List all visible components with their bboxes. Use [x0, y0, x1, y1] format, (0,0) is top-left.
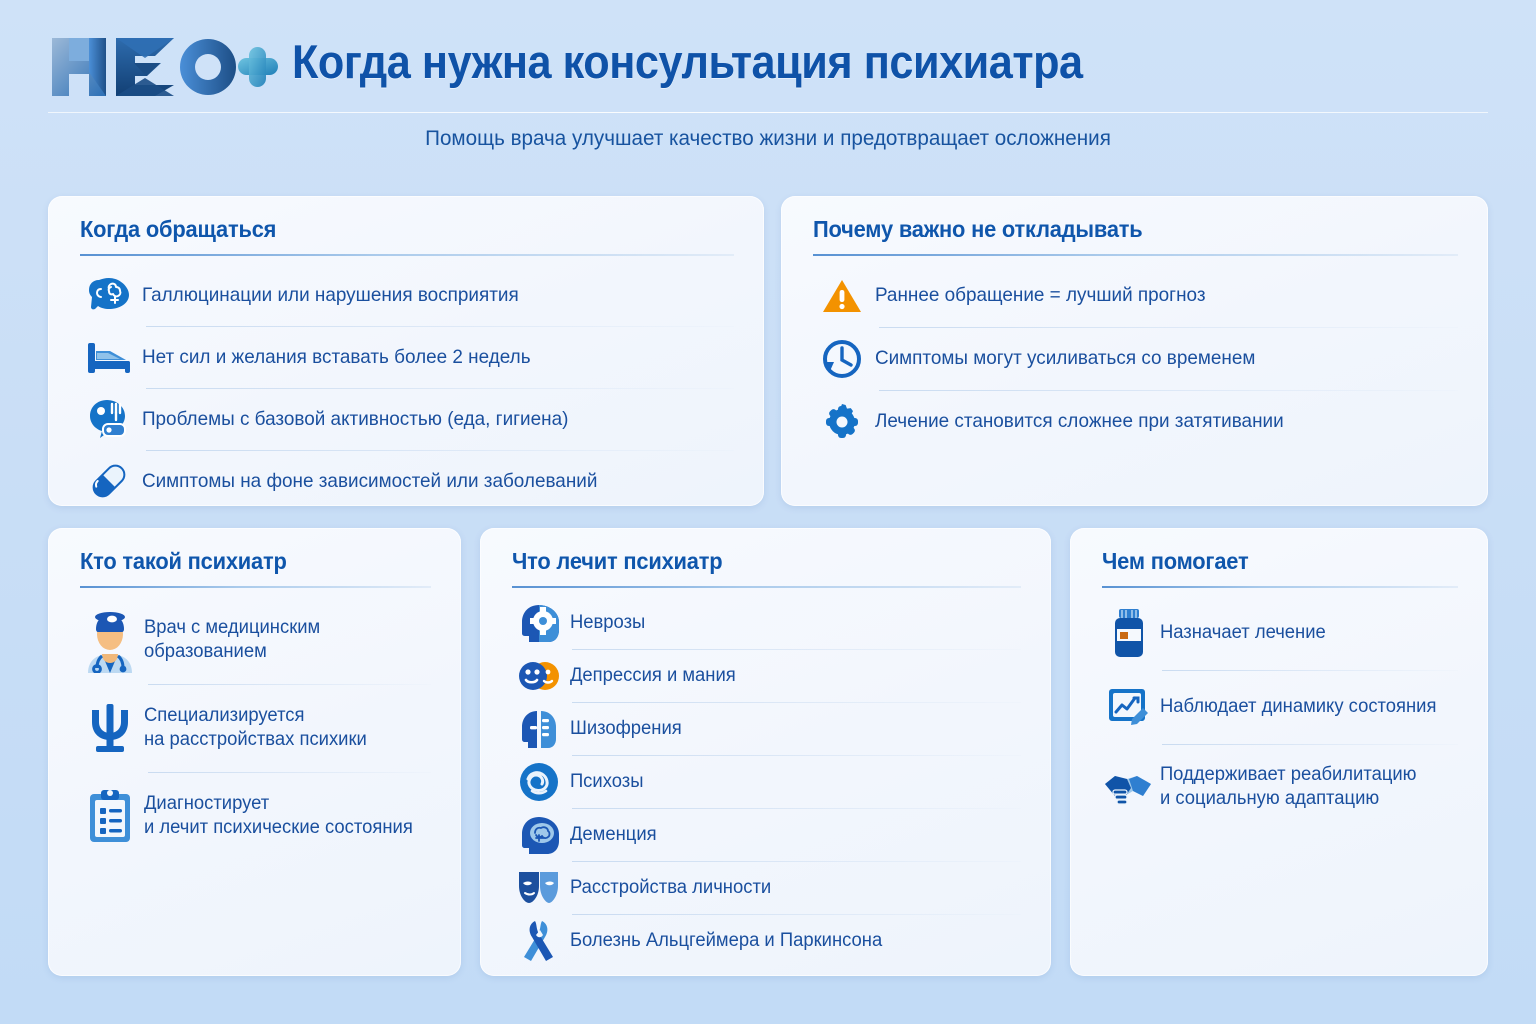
list-item[interactable]: Галлюцинации или нарушения восприятия — [78, 264, 740, 326]
list-item-label: Назначает лечение — [1158, 621, 1326, 645]
neo-plus-logo — [48, 32, 280, 102]
head-brain-icon — [510, 811, 568, 859]
theater-masks-icon — [510, 864, 568, 912]
list-item-label: Наблюдает динамику состояния — [1158, 695, 1436, 719]
list-item[interactable]: Нет сил и желания вставать более 2 недел… — [78, 326, 740, 388]
page-subtitle: Помощь врача улучшает качество жизни и п… — [31, 126, 1506, 151]
card-item-list: Галлюцинации или нарушения восприятия Не… — [78, 264, 740, 512]
brain-icon — [78, 269, 140, 321]
label-line-2: образованием — [144, 641, 267, 662]
card-title-underline — [1102, 586, 1458, 588]
list-item-label: Симптомы на фоне зависимостей или заболе… — [140, 469, 597, 494]
list-item[interactable]: Деменция — [510, 808, 1027, 861]
label-line-1: Врач с медицинским — [144, 617, 320, 638]
list-item[interactable]: Врач с медицинским образованием — [78, 596, 437, 684]
list-item[interactable]: Специализируется на расстройствах психик… — [78, 684, 437, 772]
list-item[interactable]: Неврозы — [510, 596, 1027, 649]
chart-monitor-icon — [1100, 677, 1158, 737]
clipboard-icon — [78, 780, 142, 852]
card-why-not-to-delay: Почему важно не откладывать Раннее обращ… — [781, 196, 1488, 506]
list-item-label: Деменция — [568, 823, 657, 847]
list-item[interactable]: Депрессия и мания — [510, 649, 1027, 702]
awareness-ribbon-icon — [510, 917, 568, 965]
list-item[interactable]: Проблемы с базовой активностью (еда, гиг… — [78, 388, 740, 450]
label-line-1: Специализируется — [144, 705, 305, 726]
list-item-label: Поддерживает реабилитацию и социальную а… — [1158, 763, 1417, 811]
list-item[interactable]: Болезнь Альцгеймера и Паркинсона — [510, 914, 1027, 967]
list-item-label: Расстройства личности — [568, 876, 771, 900]
medicine-bottle-icon — [1100, 603, 1158, 663]
list-item-label: Болезнь Альцгеймера и Паркинсона — [568, 929, 882, 953]
list-item-label: Галлюцинации или нарушения восприятия — [140, 283, 519, 308]
list-item-label: Раннее обращение = лучший прогноз — [873, 283, 1206, 308]
header-divider — [48, 112, 1488, 113]
card-title-underline — [80, 586, 431, 588]
gear-icon — [811, 396, 873, 448]
list-item-label: Психозы — [568, 770, 643, 794]
card-title: Чем помогает — [1102, 548, 1248, 575]
list-item-label: Шизофрения — [568, 717, 682, 741]
list-item-label: Проблемы с базовой активностью (еда, гиг… — [140, 407, 568, 432]
card-when-to-see-doctor: Когда обращаться Галлюцинации или наруше… — [48, 196, 764, 506]
bed-icon — [78, 331, 140, 383]
list-item[interactable]: Симптомы на фоне зависимостей или заболе… — [78, 450, 740, 512]
list-item[interactable]: Психозы — [510, 755, 1027, 808]
list-item-label: Депрессия и мания — [568, 664, 736, 688]
card-title: Что лечит психиатр — [512, 548, 722, 575]
list-item[interactable]: Назначает лечение — [1100, 596, 1464, 670]
card-title-underline — [813, 254, 1458, 256]
card-item-list: Назначает лечение Наблюдает динамику сос… — [1100, 596, 1464, 830]
list-item-label: Лечение становится сложнее при затятиван… — [873, 409, 1284, 434]
split-head-icon — [510, 705, 568, 753]
list-item[interactable]: Наблюдает динамику состояния — [1100, 670, 1464, 744]
label-line-1: Диагностирует — [144, 793, 269, 814]
card-how-it-helps: Чем помогает Назначает лечение — [1070, 528, 1488, 976]
page-title: Когда нужна консультация психиатра — [292, 34, 1083, 89]
psi-symbol-icon — [78, 692, 142, 764]
card-what-psychiatrist-treats: Что лечит психиатр Неврозы — [480, 528, 1051, 976]
card-title-underline — [512, 586, 1021, 588]
warning-triangle-icon — [811, 270, 873, 322]
label-line-2: на расстройствах психики — [144, 729, 367, 750]
label-line-1: Поддерживает реабилитацию — [1160, 764, 1417, 785]
card-title: Кто такой психиатр — [80, 548, 287, 575]
meal-hygiene-icon — [78, 393, 140, 445]
list-item[interactable]: Шизофрения — [510, 702, 1027, 755]
list-item-label: Нет сил и желания вставать более 2 недел… — [140, 345, 531, 370]
clock-icon — [811, 333, 873, 385]
card-who-is-psychiatrist: Кто такой психиатр Врач с медиц — [48, 528, 461, 976]
card-item-list: Неврозы Депрессия и мания — [510, 596, 1027, 967]
label-line-2: и социальную адаптацию — [1160, 788, 1379, 809]
card-title: Почему важно не откладывать — [813, 216, 1143, 243]
two-masks-faces-icon — [510, 652, 568, 700]
head-gear-icon — [510, 599, 568, 647]
list-item[interactable]: Диагностирует и лечит психические состоя… — [78, 772, 437, 860]
card-title-underline — [80, 254, 734, 256]
handshake-icon — [1100, 757, 1158, 817]
tangled-mind-icon — [510, 758, 568, 806]
list-item-label: Симптомы могут усиливаться со временем — [873, 346, 1255, 371]
card-title: Когда обращаться — [80, 216, 276, 243]
list-item-label: Диагностирует и лечит психические состоя… — [142, 792, 413, 840]
list-item[interactable]: Поддерживает реабилитацию и социальную а… — [1100, 744, 1464, 830]
label-line-2: и лечит психические состояния — [144, 817, 413, 838]
list-item-label: Специализируется на расстройствах психик… — [142, 704, 367, 752]
list-item-label: Врач с медицинским образованием — [142, 616, 320, 664]
list-item[interactable]: Расстройства личности — [510, 861, 1027, 914]
doctor-avatar-icon — [78, 604, 142, 676]
page-header: Когда нужна консультация психиатра Помощ… — [0, 0, 1536, 172]
list-item-label: Неврозы — [568, 611, 645, 635]
list-item[interactable]: Лечение становится сложнее при затятиван… — [811, 390, 1464, 453]
list-item[interactable]: Раннее обращение = лучший прогноз — [811, 264, 1464, 327]
card-item-list: Раннее обращение = лучший прогноз Симпто… — [811, 264, 1464, 453]
card-item-list: Врач с медицинским образованием Специали… — [78, 596, 437, 860]
capsule-icon — [78, 455, 140, 507]
list-item[interactable]: Симптомы могут усиливаться со временем — [811, 327, 1464, 390]
